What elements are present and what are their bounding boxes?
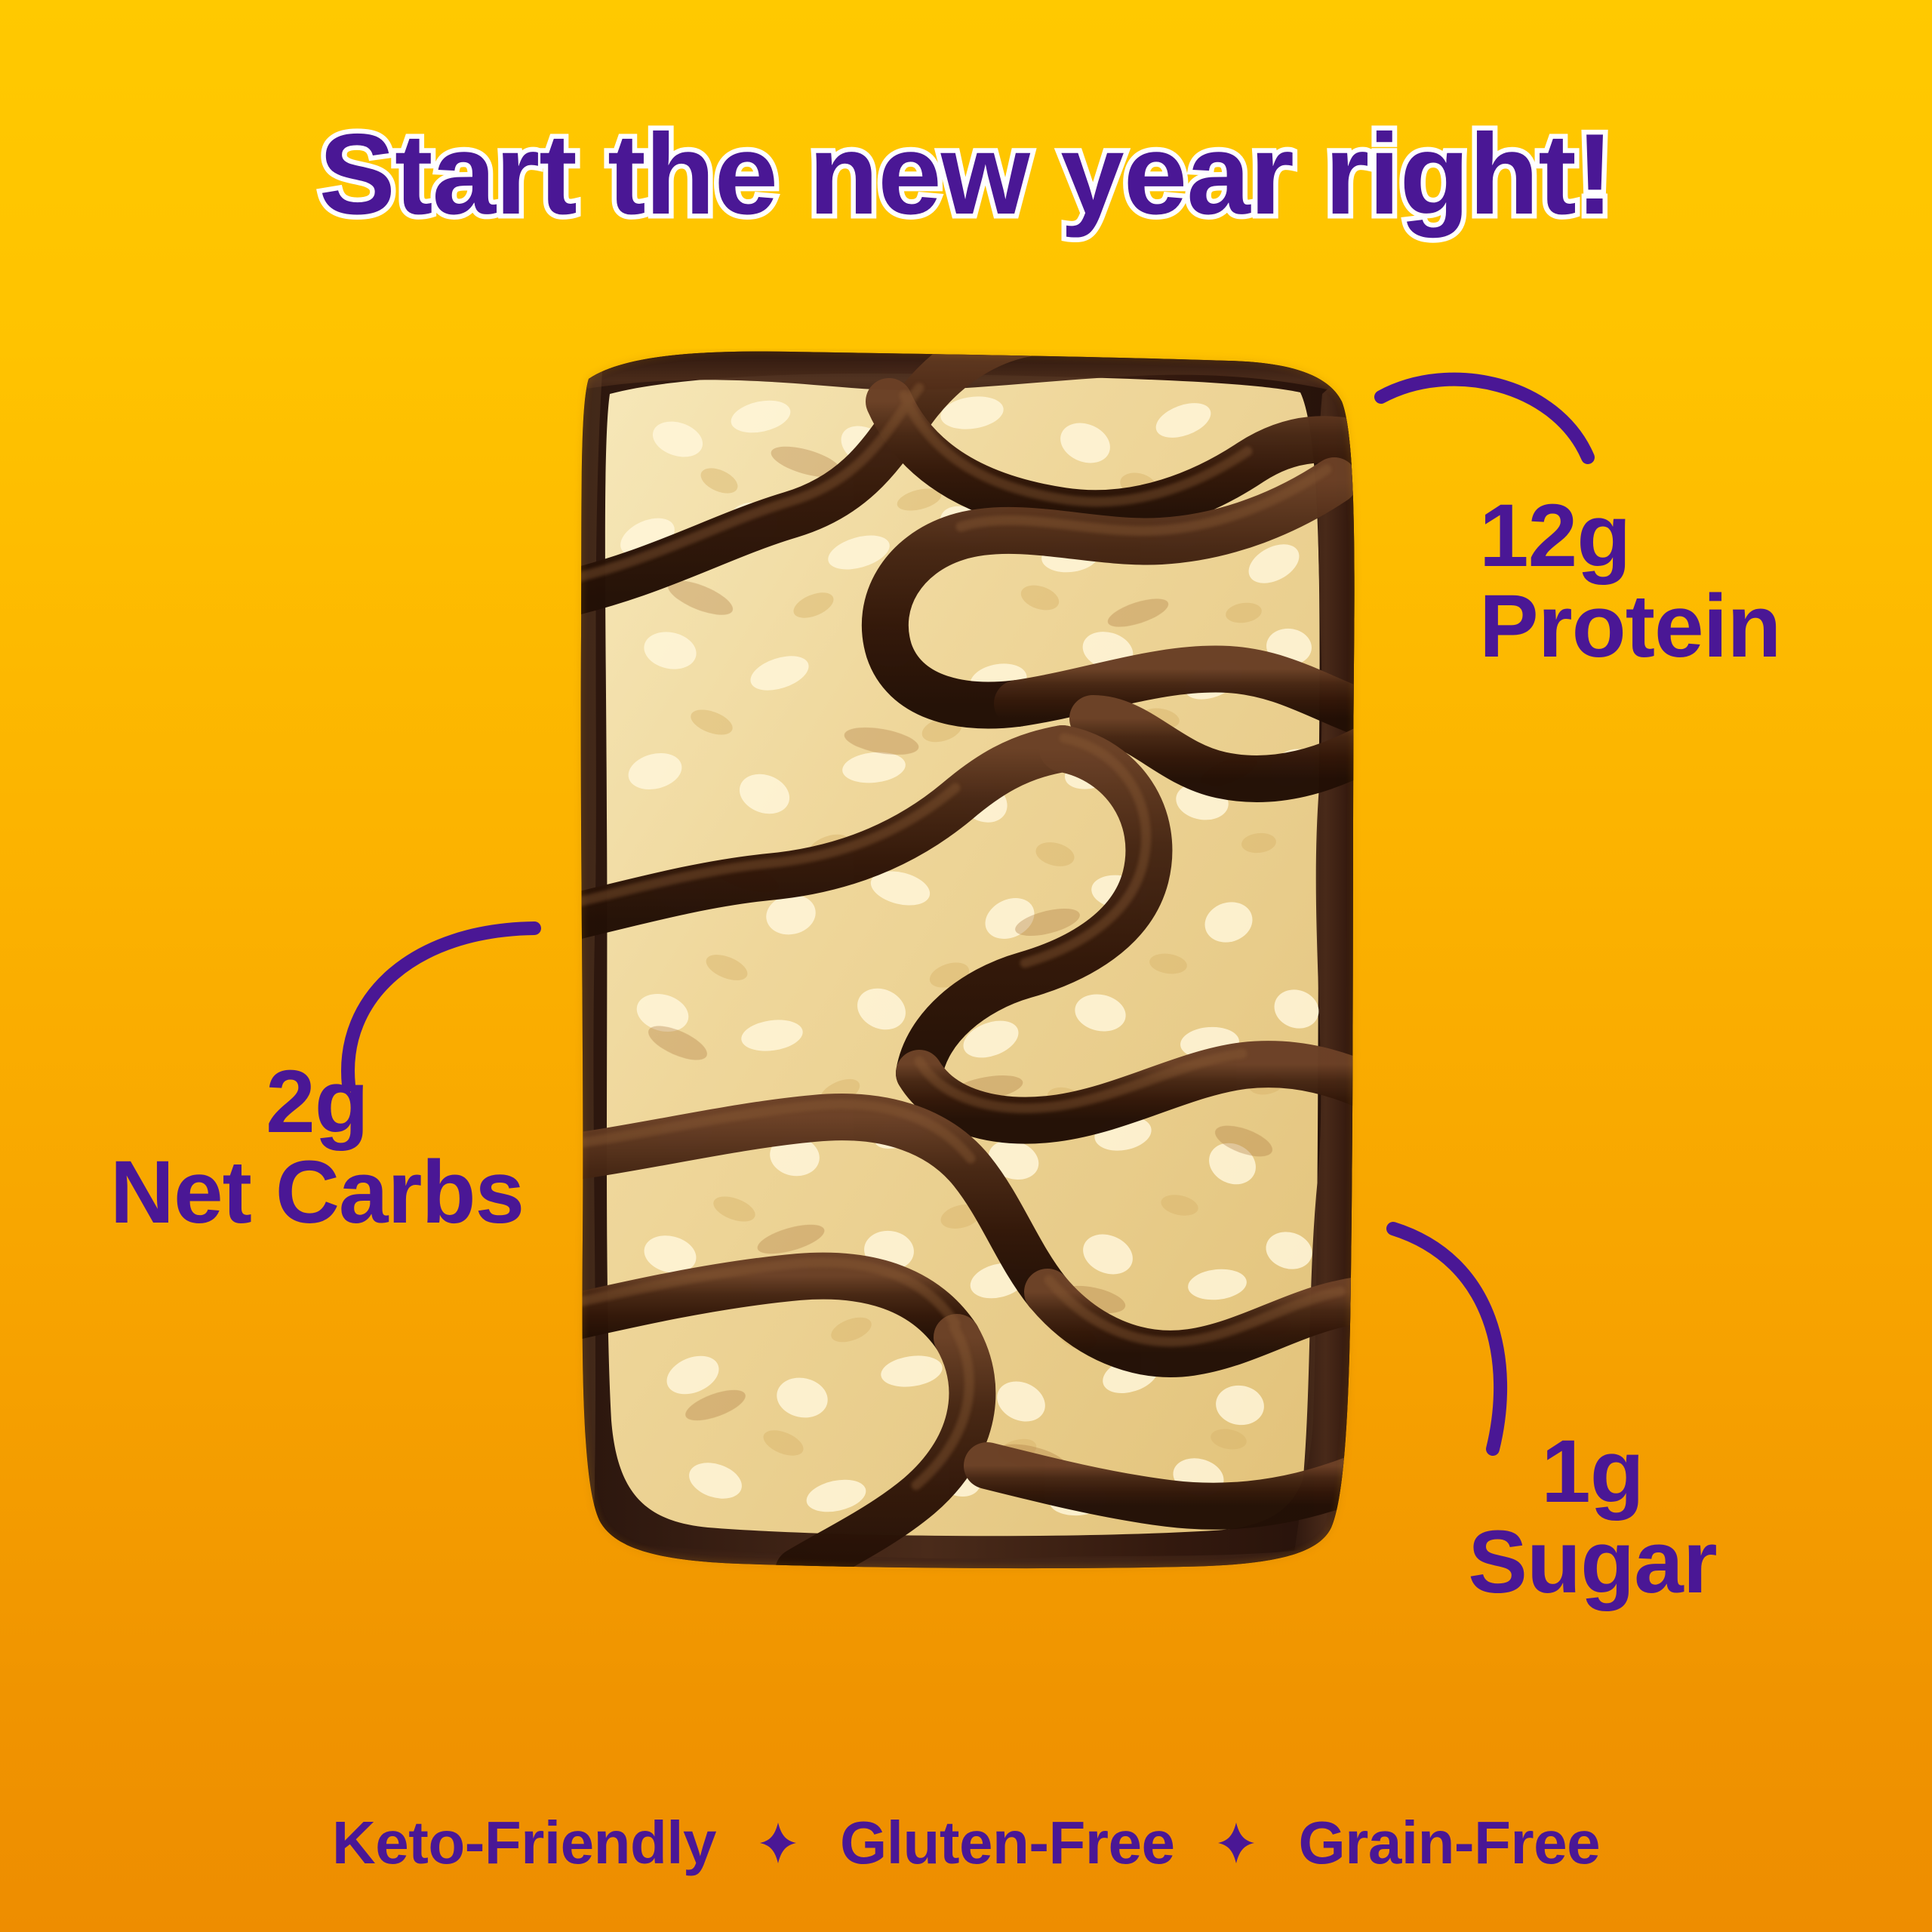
claim-keto-friendly: Keto-Friendly [332, 1808, 716, 1878]
callout-sugar-label: Sugar [1358, 1517, 1826, 1607]
claim-gluten-free: Gluten-Free [840, 1808, 1174, 1878]
callout-protein-value: 12g [1479, 491, 1781, 581]
four-point-star-icon [755, 1813, 801, 1873]
callout-sugar-value: 1g [1358, 1426, 1826, 1517]
claims-bar: Keto-Friendly Gluten-Free Grain-Free [0, 1808, 1932, 1878]
page-title: Start the new year right! [0, 115, 1932, 235]
claim-grain-free: Grain-Free [1298, 1808, 1600, 1878]
promo-canvas: Start the new year right! [0, 0, 1932, 1932]
product-image [565, 349, 1372, 1586]
four-point-star-icon [1214, 1813, 1259, 1873]
callout-net-carbs: 2g Net Carbs [45, 1057, 589, 1238]
callout-arc-sugar [1381, 1214, 1547, 1463]
callout-net-carbs-label: Net Carbs [45, 1147, 589, 1238]
callout-protein-label: Protein [1479, 581, 1781, 672]
protein-bar-illustration [565, 349, 1372, 1586]
callout-protein: 12g Protein [1479, 491, 1781, 672]
callout-sugar: 1g Sugar [1358, 1426, 1826, 1608]
callout-net-carbs-value: 2g [45, 1057, 589, 1147]
